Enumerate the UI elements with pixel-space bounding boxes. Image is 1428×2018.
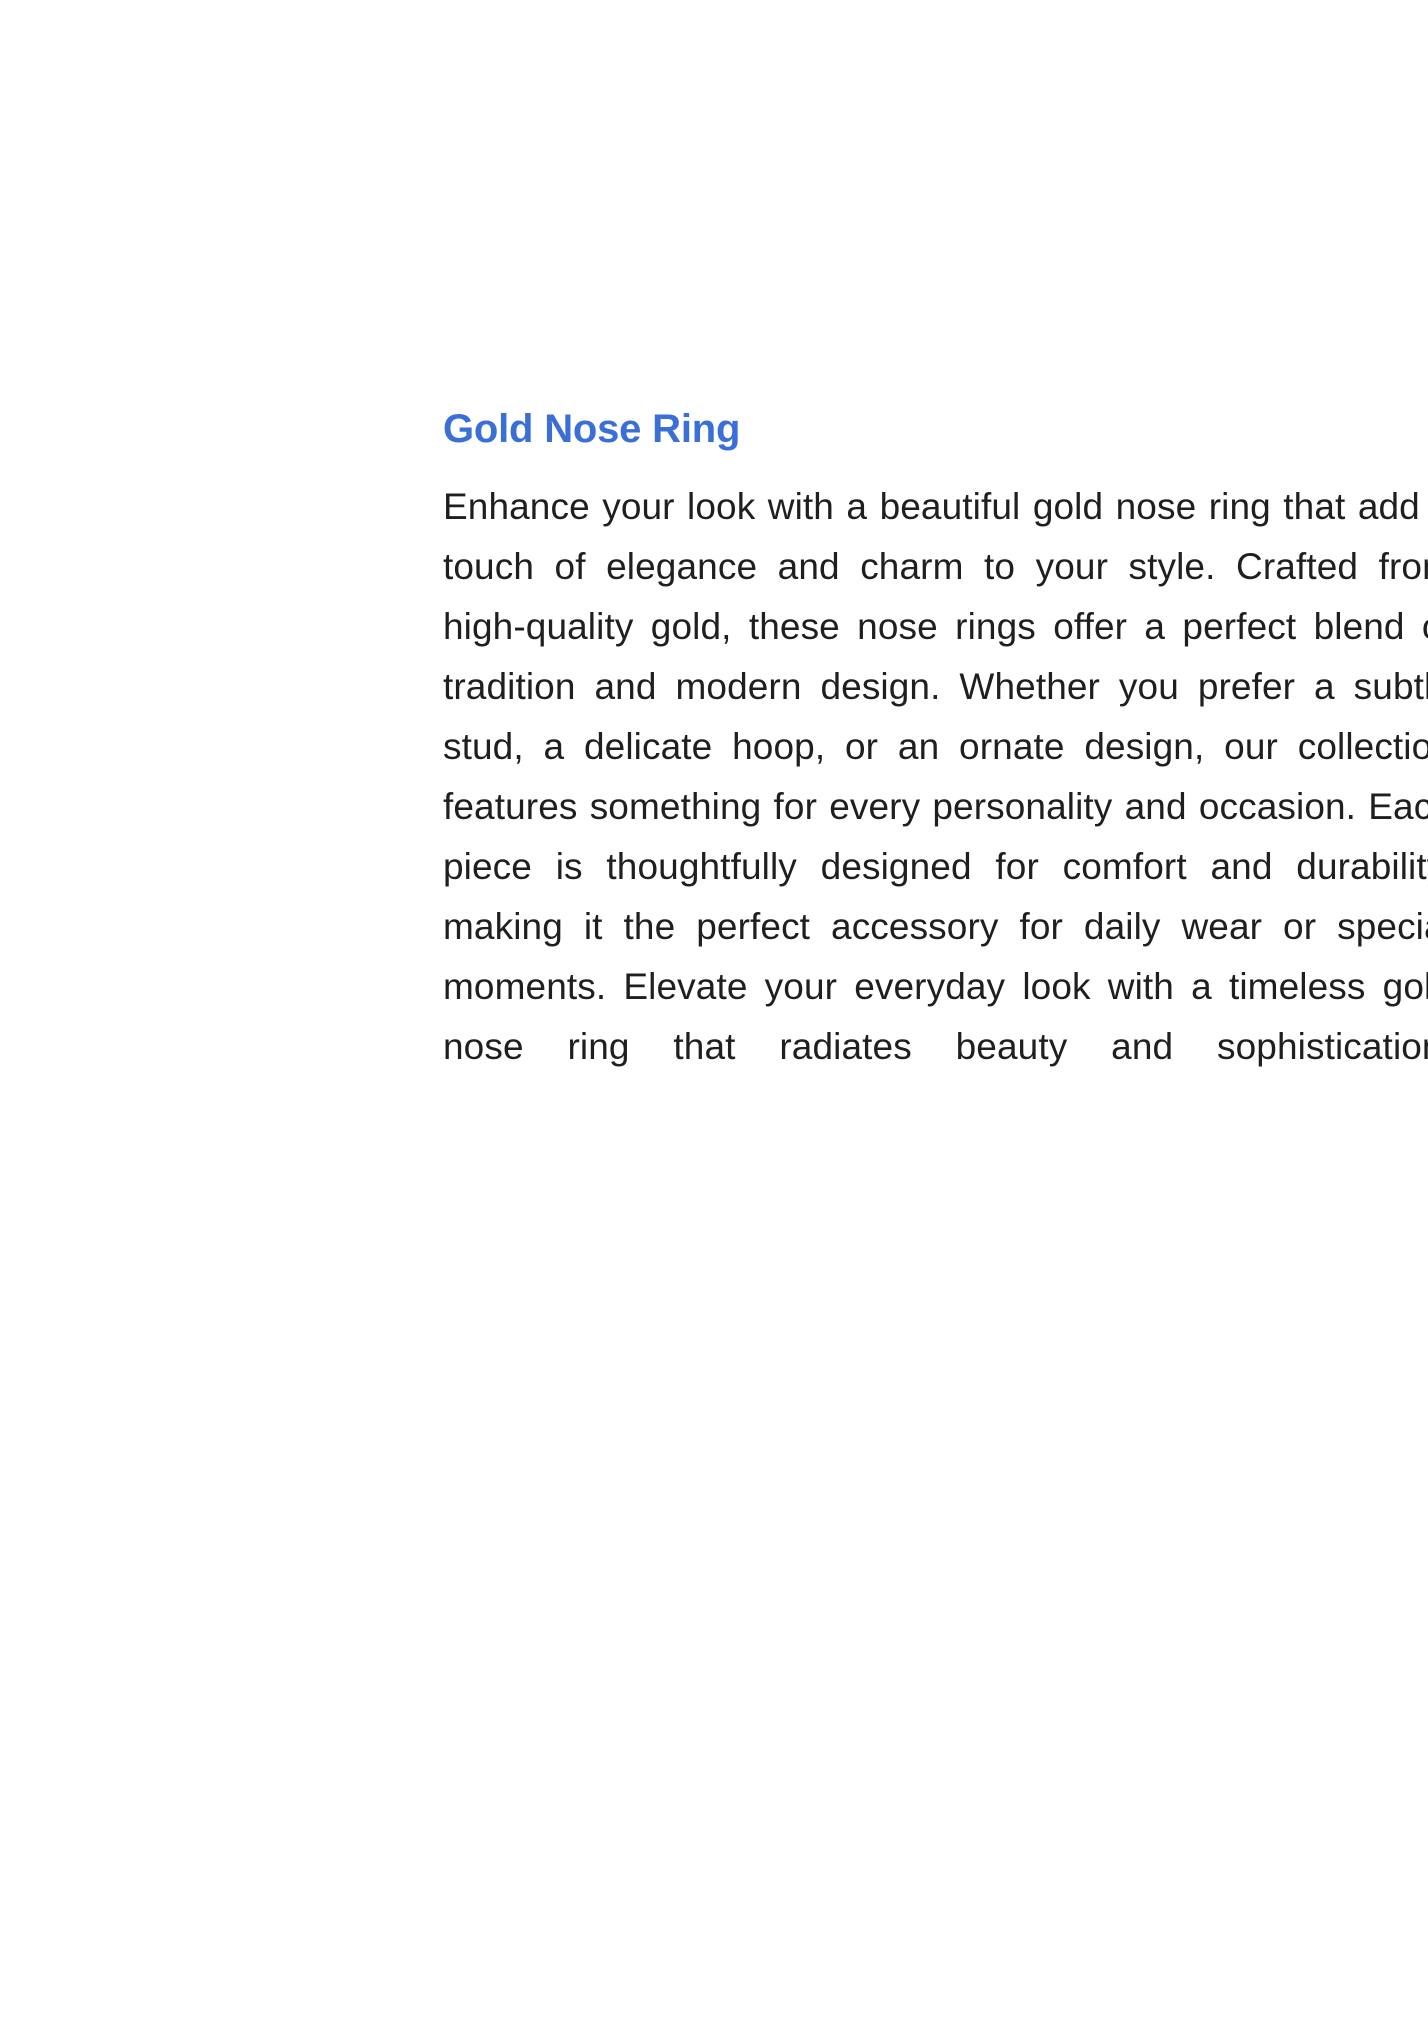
page-title: Gold Nose Ring	[443, 406, 1301, 453]
product-description-block: Gold Nose Ring Enhance your look with a …	[443, 406, 1301, 1137]
product-description-text: Enhance your look with a beautiful gold …	[443, 477, 1428, 1137]
page-canvas: Gold Nose Ring Enhance your look with a …	[0, 0, 1428, 2018]
